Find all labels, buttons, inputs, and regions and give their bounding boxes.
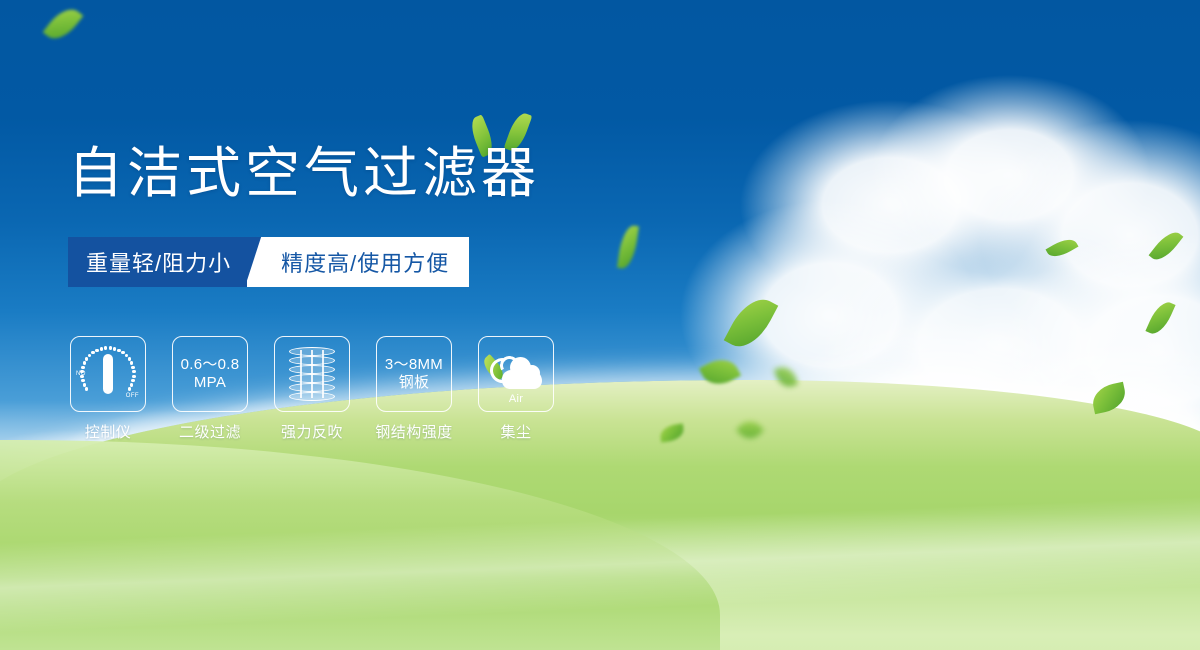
gauge-dial-icon: NO OFF	[77, 343, 139, 405]
steel-line-1: 3～8MM	[385, 356, 443, 374]
leaf-icon	[1090, 382, 1129, 415]
feature-item-steel-structure-strength: 3～8MM 钢板 钢结构强度	[376, 336, 452, 442]
cloud-cluster-right	[620, 90, 1200, 490]
leaf-icon	[43, 2, 84, 45]
grass-highlight	[0, 496, 1200, 634]
coil-airflow-icon	[289, 347, 335, 401]
feature-item-dust-collection: Air 集尘	[478, 336, 554, 442]
feature-item-strong-blowback: 强力反吹	[274, 336, 350, 442]
air-cloud-icon: Air	[490, 357, 542, 389]
steel-plate-value-icon: 3～8MM 钢板	[385, 356, 443, 393]
air-label: Air	[490, 393, 542, 405]
feature-list: NO OFF 控制仪 0.6～0.8 MPA 二级过滤	[70, 336, 554, 442]
leaf-icon	[774, 364, 798, 391]
subtitle-right-label: 精度高/使用方便	[277, 237, 469, 287]
leaf-icon	[1149, 227, 1184, 265]
feature-caption: 控制仪	[70, 421, 146, 442]
feature-item-two-stage-filtration: 0.6～0.8 MPA 二级过滤	[172, 336, 248, 442]
feature-caption: 强力反吹	[274, 421, 350, 442]
hero-banner: 自洁式空气过滤器 重量轻/阻力小 精度高/使用方便 NO OFF 控制仪 0.6…	[0, 0, 1200, 650]
subtitle-divider	[247, 237, 277, 287]
feature-item-controller: NO OFF 控制仪	[70, 336, 146, 442]
feature-icon-box: 3～8MM 钢板	[376, 336, 452, 412]
feature-caption: 二级过滤	[172, 421, 248, 442]
gauge-label-off: OFF	[126, 393, 139, 399]
grass-hill-left	[0, 440, 720, 650]
leaf-icon	[1145, 298, 1175, 338]
feature-icon-box: Air	[478, 336, 554, 412]
feature-icon-box	[274, 336, 350, 412]
feature-icon-box: 0.6～0.8 MPA	[172, 336, 248, 412]
page-title: 自洁式空气过滤器	[68, 146, 540, 201]
leaf-icon	[699, 353, 741, 392]
feature-icon-box: NO OFF	[70, 336, 146, 412]
feature-caption: 集尘	[478, 421, 554, 442]
leaf-icon	[1046, 234, 1079, 261]
leaf-icon	[724, 291, 779, 355]
pressure-line-2: MPA	[181, 374, 240, 392]
subtitle-left-label: 重量轻/阻力小	[68, 237, 247, 287]
subtitle-bar: 重量轻/阻力小 精度高/使用方便	[68, 237, 469, 287]
leaf-icon	[659, 423, 685, 442]
steel-line-2: 钢板	[385, 374, 443, 392]
leaf-icon	[736, 416, 764, 444]
feature-caption: 钢结构强度	[362, 421, 466, 442]
leaf-icon	[617, 224, 639, 270]
pressure-line-1: 0.6～0.8	[181, 356, 240, 374]
pressure-value-icon: 0.6～0.8 MPA	[181, 356, 240, 393]
